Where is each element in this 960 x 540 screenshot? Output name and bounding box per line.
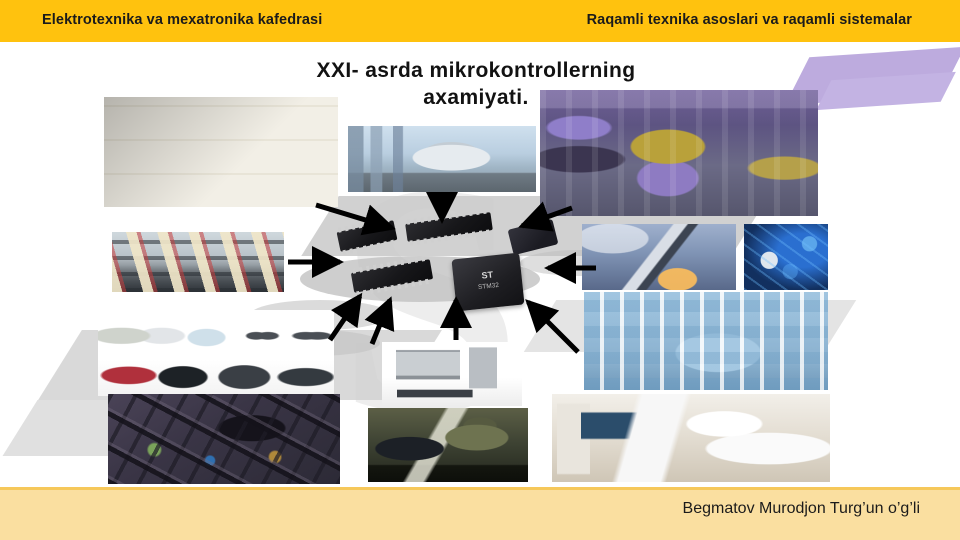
title-line-1: XXI- asrda mikrokontrollerning bbox=[296, 58, 656, 85]
title-line-2: axamiyati. bbox=[296, 85, 656, 112]
course-title-label: Raqamli texnika asoslari va raqamli sist… bbox=[587, 12, 912, 28]
page-title: XXI- asrda mikrokontrollerning axamiyati… bbox=[296, 58, 656, 112]
arrow-from-robots bbox=[522, 208, 572, 226]
author-label: Begmatov Murodjon Turg’un o’g’li bbox=[683, 500, 920, 518]
footer-accent-line bbox=[0, 487, 960, 490]
footer-band: Begmatov Murodjon Turg’un o’g’li bbox=[0, 488, 960, 540]
header-bar: Elektrotexnika va mexatronika kafedrasi … bbox=[0, 0, 960, 42]
arrow-from-robot bbox=[528, 302, 578, 352]
arrow-from-military bbox=[316, 205, 392, 228]
arrow-from-pcb bbox=[372, 300, 390, 344]
presentation-slide: S XXI- asrda mikrokontrollerning axamiya… bbox=[0, 0, 960, 540]
department-label: Elektrotexnika va mexatronika kafedrasi bbox=[42, 12, 322, 28]
arrow-from-appliances bbox=[330, 296, 360, 340]
